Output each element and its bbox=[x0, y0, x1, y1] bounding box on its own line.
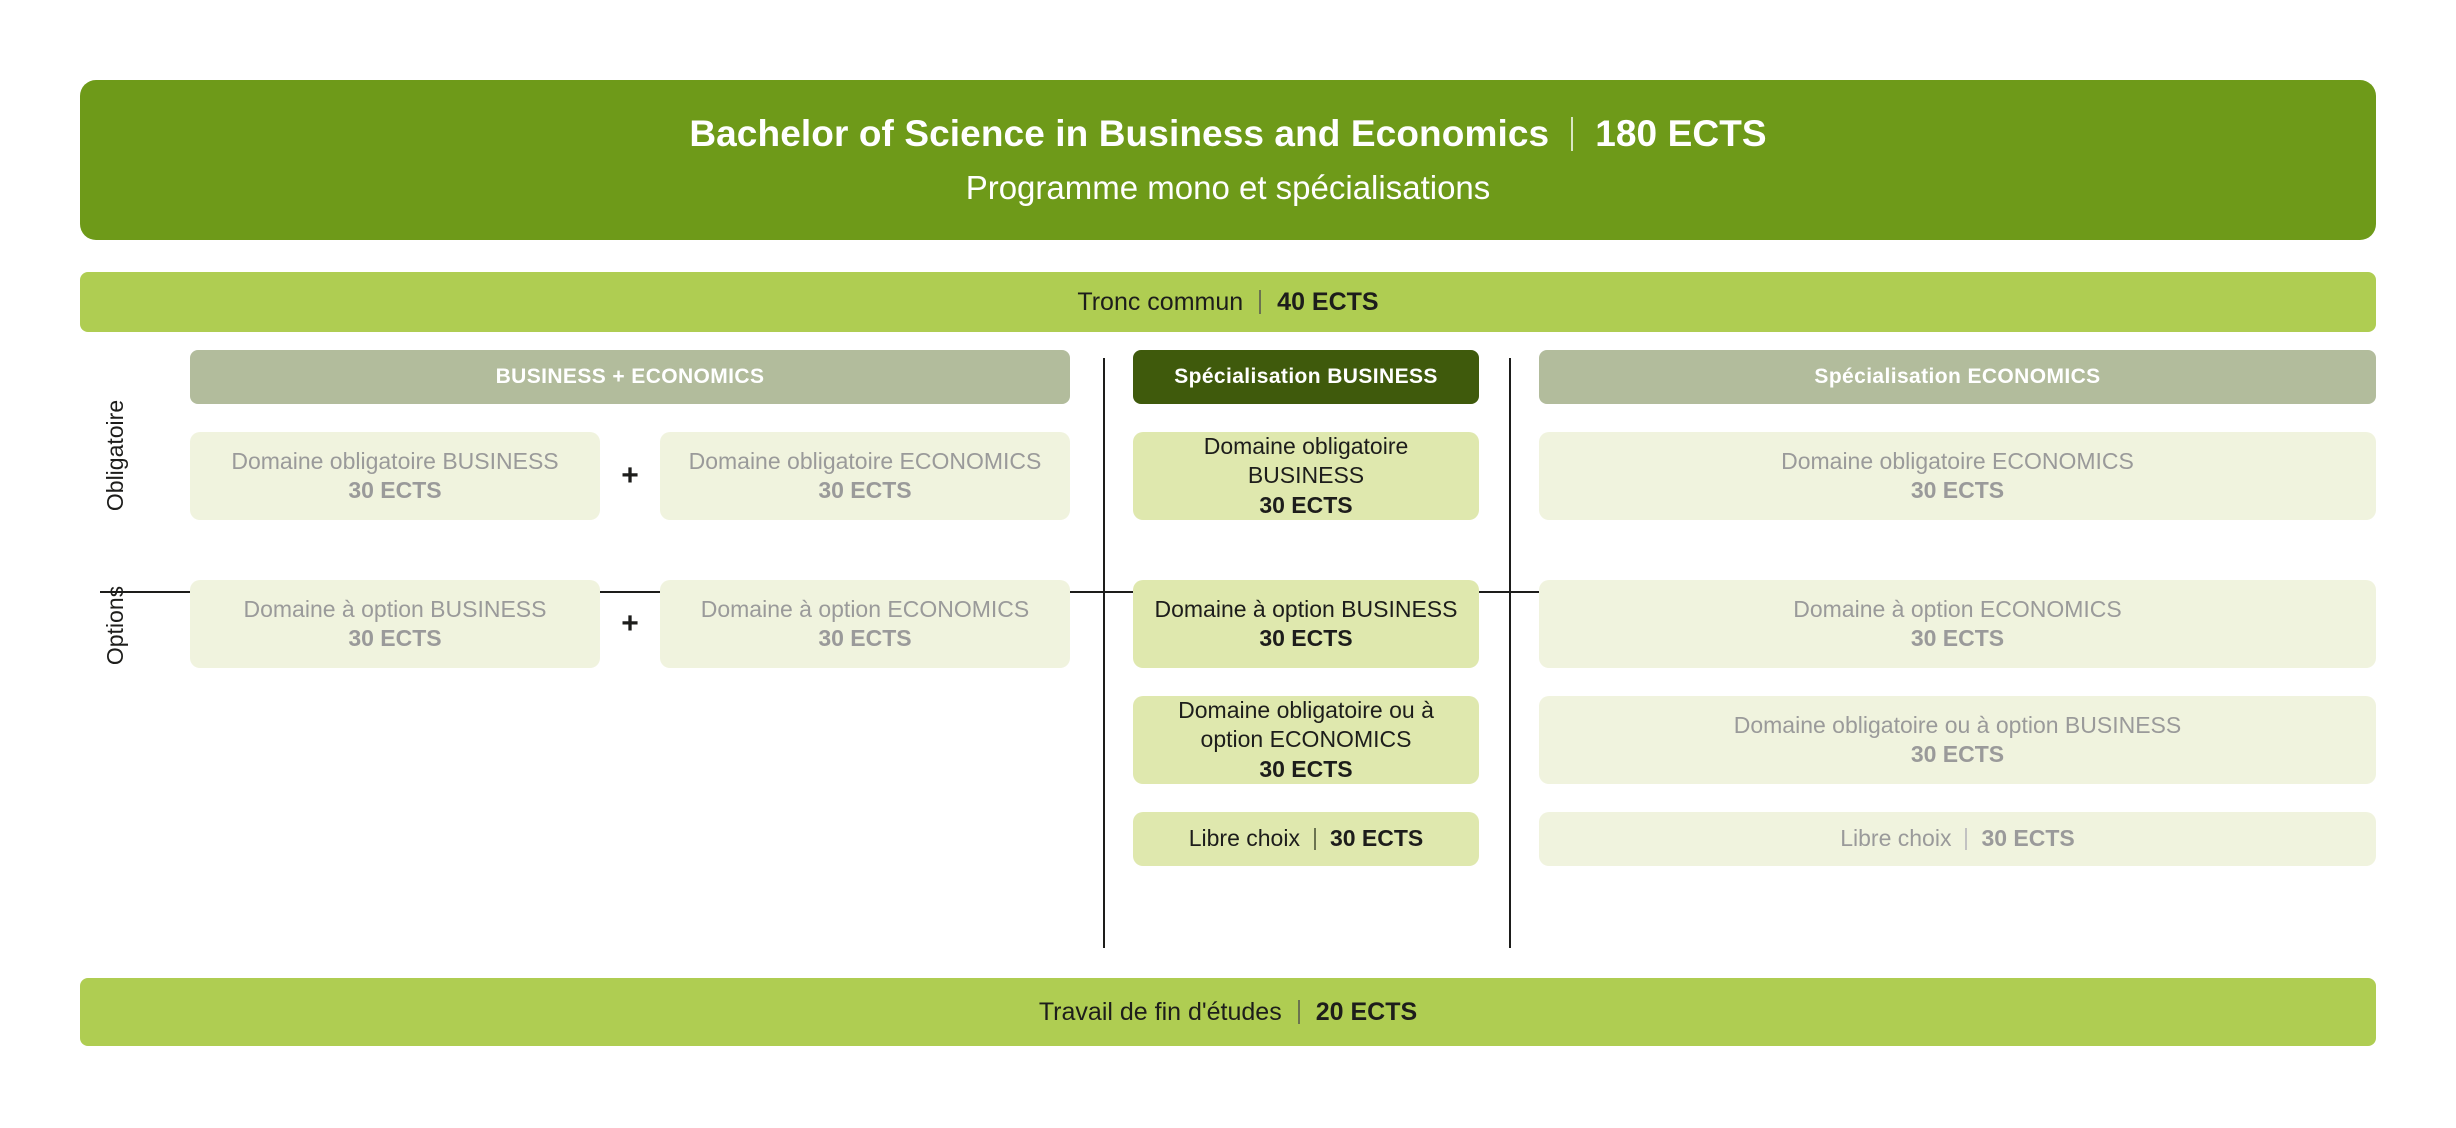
libre-choix-divider bbox=[1314, 828, 1316, 850]
column-specialisation-business: Spécialisation BUSINESS Domaine obligato… bbox=[1133, 350, 1479, 866]
travail-fin-etudes-ects: 20 ECTS bbox=[1316, 998, 1417, 1027]
card-ects: 30 ECTS bbox=[1911, 476, 2004, 505]
card-business-option-business[interactable]: Domaine à option BUSINESS 30 ECTS bbox=[1133, 580, 1479, 668]
row-label-options-text: Options bbox=[103, 585, 130, 664]
card-title: Domaine à option ECONOMICS bbox=[701, 595, 1030, 624]
card-ects: 30 ECTS bbox=[1911, 624, 2004, 653]
program-header-banner: Bachelor of Science in Business and Econ… bbox=[80, 80, 2376, 240]
card-business-libre-choix[interactable]: Libre choix 30 ECTS bbox=[1133, 812, 1479, 866]
column-header-business-economics[interactable]: BUSINESS + ECONOMICS bbox=[190, 350, 1070, 404]
card-title: Domaine à option BUSINESS bbox=[1155, 595, 1458, 624]
card-ects: 30 ECTS bbox=[1911, 740, 2004, 769]
card-libre-choix-inline: Libre choix 30 ECTS bbox=[1840, 824, 2075, 853]
program-title: Bachelor of Science in Business and Econ… bbox=[689, 114, 1549, 155]
program-subtitle: Programme mono et spécialisations bbox=[966, 170, 1491, 206]
column-business-economics: BUSINESS + ECONOMICS Domaine obligatoire… bbox=[190, 350, 1070, 668]
curriculum-matrix: Obligatoire Options BUSINESS + ECONOMICS… bbox=[80, 350, 2376, 960]
card-combined-obligatoire-business[interactable]: Domaine obligatoire BUSINESS 30 ECTS bbox=[190, 432, 600, 520]
column-divider-left bbox=[1103, 358, 1105, 948]
card-title: Domaine à option ECONOMICS bbox=[1793, 595, 2122, 624]
card-title: Domaine obligatoire ECONOMICS bbox=[689, 447, 1042, 476]
row-label-options: Options bbox=[96, 550, 136, 700]
card-combined-option-economics[interactable]: Domaine à option ECONOMICS 30 ECTS bbox=[660, 580, 1070, 668]
row-label-obligatoire: Obligatoire bbox=[96, 380, 136, 530]
card-ects: 30 ECTS bbox=[1259, 491, 1352, 520]
card-libre-choix-inline: Libre choix 30 ECTS bbox=[1189, 824, 1424, 853]
plus-icon-options: + bbox=[600, 580, 660, 668]
card-ects: 30 ECTS bbox=[818, 624, 911, 653]
card-title: Domaine obligatoire ou à option ECONOMIC… bbox=[1151, 696, 1461, 755]
card-title: Domaine obligatoire BUSINESS bbox=[231, 447, 558, 476]
libre-choix-ects: 30 ECTS bbox=[1330, 824, 1423, 853]
card-economics-obligatoire-economics[interactable]: Domaine obligatoire ECONOMICS 30 ECTS bbox=[1539, 432, 2376, 520]
tronc-commun-bar: Tronc commun 40 ECTS bbox=[80, 272, 2376, 332]
card-title: Domaine obligatoire ECONOMICS bbox=[1781, 447, 2134, 476]
column-header-specialisation-business[interactable]: Spécialisation BUSINESS bbox=[1133, 350, 1479, 404]
travail-fin-etudes-label: Travail de fin d'études bbox=[1039, 998, 1282, 1027]
row-label-obligatoire-text: Obligatoire bbox=[103, 399, 130, 510]
libre-choix-divider bbox=[1965, 828, 1967, 850]
column-header-specialisation-economics[interactable]: Spécialisation ECONOMICS bbox=[1539, 350, 2376, 404]
travail-fin-etudes-divider bbox=[1298, 1000, 1300, 1024]
program-total-ects: 180 ECTS bbox=[1595, 114, 1767, 155]
libre-choix-label: Libre choix bbox=[1189, 824, 1300, 853]
card-title: Domaine à option BUSINESS bbox=[244, 595, 547, 624]
card-ects: 30 ECTS bbox=[818, 476, 911, 505]
combined-options-row: Domaine à option BUSINESS 30 ECTS + Doma… bbox=[190, 580, 1070, 668]
card-economics-option-economics[interactable]: Domaine à option ECONOMICS 30 ECTS bbox=[1539, 580, 2376, 668]
card-ects: 30 ECTS bbox=[1259, 624, 1352, 653]
travail-fin-etudes-bar: Travail de fin d'études 20 ECTS bbox=[80, 978, 2376, 1046]
card-ects: 30 ECTS bbox=[348, 476, 441, 505]
program-title-row: Bachelor of Science in Business and Econ… bbox=[689, 114, 1766, 155]
card-economics-obligatoire-ou-option-business[interactable]: Domaine obligatoire ou à option BUSINESS… bbox=[1539, 696, 2376, 784]
libre-choix-label: Libre choix bbox=[1840, 824, 1951, 853]
column-specialisation-economics: Spécialisation ECONOMICS Domaine obligat… bbox=[1539, 350, 2376, 866]
card-ects: 30 ECTS bbox=[1259, 755, 1352, 784]
title-divider bbox=[1571, 117, 1573, 151]
card-business-obligatoire-ou-option-economics[interactable]: Domaine obligatoire ou à option ECONOMIC… bbox=[1133, 696, 1479, 784]
card-ects: 30 ECTS bbox=[348, 624, 441, 653]
card-combined-obligatoire-economics[interactable]: Domaine obligatoire ECONOMICS 30 ECTS bbox=[660, 432, 1070, 520]
tronc-commun-label: Tronc commun bbox=[1077, 288, 1243, 317]
column-divider-right bbox=[1509, 358, 1511, 948]
combined-obligatoire-row: Domaine obligatoire BUSINESS 30 ECTS + D… bbox=[190, 432, 1070, 520]
card-economics-libre-choix[interactable]: Libre choix 30 ECTS bbox=[1539, 812, 2376, 866]
card-business-obligatoire-business[interactable]: Domaine obligatoire BUSINESS 30 ECTS bbox=[1133, 432, 1479, 520]
tronc-commun-divider bbox=[1259, 290, 1261, 314]
card-title: Domaine obligatoire BUSINESS bbox=[1151, 432, 1461, 491]
plus-icon-obligatoire: + bbox=[600, 432, 660, 520]
tronc-commun-ects: 40 ECTS bbox=[1277, 288, 1378, 317]
libre-choix-ects: 30 ECTS bbox=[1981, 824, 2074, 853]
curriculum-diagram: Bachelor of Science in Business and Econ… bbox=[0, 0, 2456, 1128]
card-combined-option-business[interactable]: Domaine à option BUSINESS 30 ECTS bbox=[190, 580, 600, 668]
card-title: Domaine obligatoire ou à option BUSINESS bbox=[1734, 711, 2181, 740]
